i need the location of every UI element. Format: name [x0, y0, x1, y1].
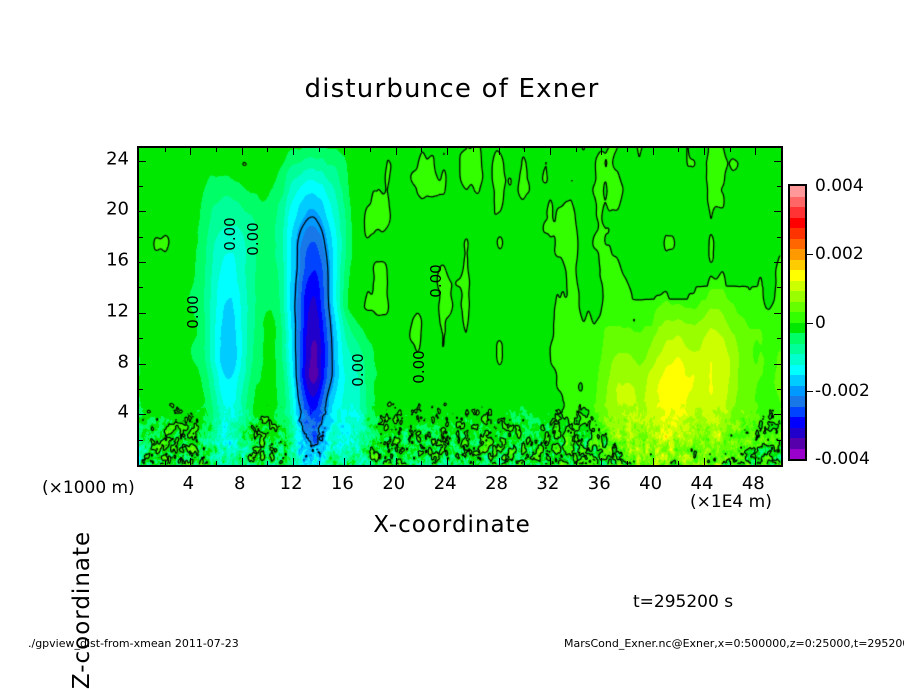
x-axis-tick: [267, 148, 268, 152]
y-axis-tick-label: 16: [91, 250, 129, 271]
x-axis-tick: [293, 458, 294, 465]
x-axis-tick: [190, 148, 191, 155]
x-axis-tick: [216, 461, 217, 465]
x-axis-tick: [550, 148, 551, 155]
y-axis-tick: [139, 389, 143, 390]
y-axis-tick: [139, 440, 143, 441]
footer-command-label: ./gpview_dist-from-xmean 2011-07-23: [28, 637, 239, 650]
x-axis-tick: [678, 461, 679, 465]
colorbar-band: [790, 323, 805, 334]
x-axis-tick-label: 28: [485, 473, 508, 494]
time-annotation: t=295200 s: [633, 592, 733, 612]
y-axis-tick: [139, 161, 146, 162]
x-axis-tick-label: 24: [434, 473, 457, 494]
x-axis-tick: [344, 148, 345, 155]
y-axis-tick: [774, 161, 781, 162]
x-axis-tick: [627, 461, 628, 465]
y-axis-tick: [774, 262, 781, 263]
contour-plot-area[interactable]: 0.000.000.000.000.000.00: [137, 146, 783, 467]
colorbar-band: [790, 386, 805, 397]
colorbar[interactable]: 0.0040.0020-0.002-0.004: [788, 184, 807, 461]
colorbar-tick-mark: [807, 323, 813, 324]
colorbar-band: [790, 291, 805, 302]
y-axis-tick: [139, 313, 146, 314]
colorbar-band: [790, 344, 805, 355]
y-axis-tick-label: 8: [91, 351, 129, 372]
x-axis-tick: [421, 148, 422, 152]
colorbar-band: [790, 396, 805, 407]
colorbar-band: [790, 365, 805, 376]
colorbar-band: [790, 333, 805, 344]
contour-level-label: 0.00: [184, 295, 202, 328]
x-axis-tick: [216, 148, 217, 152]
colorbar-band: [790, 302, 805, 313]
y-axis-tick: [139, 237, 143, 238]
x-axis-tick-label: 40: [639, 473, 662, 494]
x-axis-tick: [242, 458, 243, 465]
colorbar-tick-label: -0.002: [815, 381, 870, 401]
x-axis-tick: [730, 148, 731, 152]
x-axis-tick: [473, 461, 474, 465]
x-axis-tick-label: 8: [234, 473, 245, 494]
colorbar-band: [790, 239, 805, 250]
x-axis-tick: [499, 458, 500, 465]
y-axis-tick: [139, 338, 143, 339]
y-axis-tick: [139, 414, 146, 415]
contour-level-label: 0.00: [349, 353, 367, 386]
y-axis-tick: [777, 389, 781, 390]
x-axis-tick-label: 36: [588, 473, 611, 494]
x-axis-tick: [473, 148, 474, 152]
x-axis-tick: [601, 148, 602, 155]
x-axis-tick: [730, 461, 731, 465]
colorbar-tick-label: 0: [815, 313, 826, 333]
y-axis-tick: [774, 313, 781, 314]
contour-level-label: 0.00: [410, 350, 428, 383]
colorbar-band: [790, 281, 805, 292]
y-axis-tick-label: 20: [91, 199, 129, 220]
y-axis-tick: [139, 364, 146, 365]
x-axis-tick: [781, 148, 782, 152]
x-axis-tick: [550, 458, 551, 465]
colorbar-tick-label: 0.004: [815, 176, 864, 196]
x-axis-tick-label: 32: [536, 473, 559, 494]
y-axis-tick-label: 4: [91, 402, 129, 423]
x-axis-tick: [447, 458, 448, 465]
y-axis-tick: [774, 414, 781, 415]
colorbar-band: [790, 449, 805, 460]
colorbar-tick-mark: [807, 254, 813, 255]
x-axis-tick: [267, 461, 268, 465]
x-axis-tick: [524, 148, 525, 152]
x-axis-tick: [242, 148, 243, 155]
colorbar-band: [790, 218, 805, 229]
y-axis-tick: [777, 287, 781, 288]
contour-plot-canvas: [139, 148, 781, 465]
colorbar-band: [790, 438, 805, 449]
x-axis-tick: [344, 458, 345, 465]
x-axis-tick: [678, 148, 679, 152]
x-axis-tick: [190, 458, 191, 465]
x-axis-tick-label: 4: [183, 473, 194, 494]
x-axis-unit-label: (×1E4 m): [690, 492, 772, 512]
contour-level-label: 0.00: [244, 222, 262, 255]
y-axis-tick: [139, 262, 146, 263]
colorbar-band: [790, 249, 805, 260]
x-axis-tick-label: 20: [382, 473, 405, 494]
x-axis-tick: [653, 148, 654, 155]
colorbar-band: [790, 354, 805, 365]
x-axis-tick: [627, 148, 628, 152]
colorbar-band: [790, 228, 805, 239]
colorbar-tick-label: 0.002: [815, 244, 864, 264]
colorbar-band: [790, 417, 805, 428]
colorbar-band: [790, 270, 805, 281]
x-axis-title: X-coordinate: [0, 512, 904, 538]
x-axis-tick: [499, 148, 500, 155]
x-axis-tick: [370, 148, 371, 152]
page-title: disturbunce of Exner: [0, 74, 904, 104]
x-axis-tick: [396, 148, 397, 155]
x-axis-tick: [576, 148, 577, 152]
colorbar-band: [790, 312, 805, 323]
y-axis-tick: [777, 186, 781, 187]
y-axis-unit-label: (×1000 m): [42, 478, 135, 498]
x-axis-tick: [421, 461, 422, 465]
x-axis-tick: [653, 458, 654, 465]
y-axis-tick: [139, 287, 143, 288]
colorbar-gradient: [788, 184, 807, 461]
x-axis-tick-label: 48: [742, 473, 765, 494]
x-axis-tick-label: 44: [691, 473, 714, 494]
x-axis-tick: [165, 461, 166, 465]
y-axis-tick: [774, 364, 781, 365]
x-axis-tick-label: 12: [280, 473, 303, 494]
colorbar-band: [790, 428, 805, 439]
colorbar-band: [790, 186, 805, 197]
x-axis-tick: [319, 461, 320, 465]
footer-source-label: MarsCond_Exner.nc@Exner,x=0:500000,z=0:2…: [564, 637, 904, 650]
y-axis-tick-label: 24: [91, 148, 129, 169]
x-axis-tick: [704, 458, 705, 465]
y-axis-tick: [777, 338, 781, 339]
y-axis-tick: [777, 440, 781, 441]
x-axis-tick: [704, 148, 705, 155]
colorbar-band: [790, 407, 805, 418]
x-axis-tick: [293, 148, 294, 155]
x-axis-tick: [755, 148, 756, 155]
x-axis-tick: [319, 148, 320, 152]
x-axis-tick: [576, 461, 577, 465]
y-axis-tick: [774, 211, 781, 212]
x-axis-tick: [755, 458, 756, 465]
x-axis-tick: [370, 461, 371, 465]
colorbar-tick-mark: [807, 391, 813, 392]
colorbar-tick-label: -0.004: [815, 449, 870, 469]
x-axis-tick-label: 16: [331, 473, 354, 494]
contour-level-label: 0.00: [427, 264, 445, 297]
colorbar-band: [790, 207, 805, 218]
x-axis-tick: [524, 461, 525, 465]
x-axis-tick: [601, 458, 602, 465]
y-axis-tick: [777, 237, 781, 238]
colorbar-band: [790, 375, 805, 386]
x-axis-tick: [781, 461, 782, 465]
colorbar-band: [790, 260, 805, 271]
x-axis-tick: [447, 148, 448, 155]
x-axis-tick: [396, 458, 397, 465]
x-axis-tick: [165, 148, 166, 152]
y-axis-tick: [139, 186, 143, 187]
y-axis-tick-label: 12: [91, 300, 129, 321]
contour-level-label: 0.00: [221, 217, 239, 250]
y-axis-title: Z-coordinate: [69, 531, 95, 689]
colorbar-band: [790, 197, 805, 208]
y-axis-tick: [139, 211, 146, 212]
